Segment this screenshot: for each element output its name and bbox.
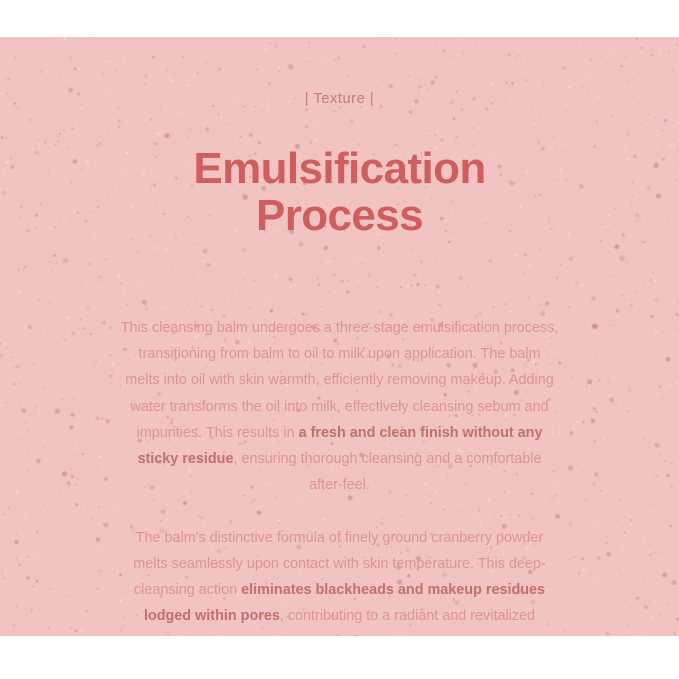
textured-panel: | Texture | Emulsification Process This … [0,37,679,636]
body-text: , contributing to a radiant and revitali… [280,608,535,636]
section-eyebrow-label: | Texture | [305,92,374,107]
product-description-card: | Texture | Emulsification Process This … [0,0,679,679]
panel-content: | Texture | Emulsification Process This … [0,37,679,636]
page-title-line-1: Emulsification [193,145,485,193]
description-body: This cleansing balm undergoes a three-st… [120,315,560,636]
body-text: This cleansing balm undergoes a three-st… [121,320,559,441]
paragraph-1: This cleansing balm undergoes a three-st… [120,315,560,499]
page-title: Emulsification Process [193,145,485,240]
paragraph-2: The balm's distinctive formula of finely… [120,525,560,636]
page-title-line-2: Process [193,192,485,240]
body-text: , ensuring thorough cleansing and a comf… [233,451,541,493]
